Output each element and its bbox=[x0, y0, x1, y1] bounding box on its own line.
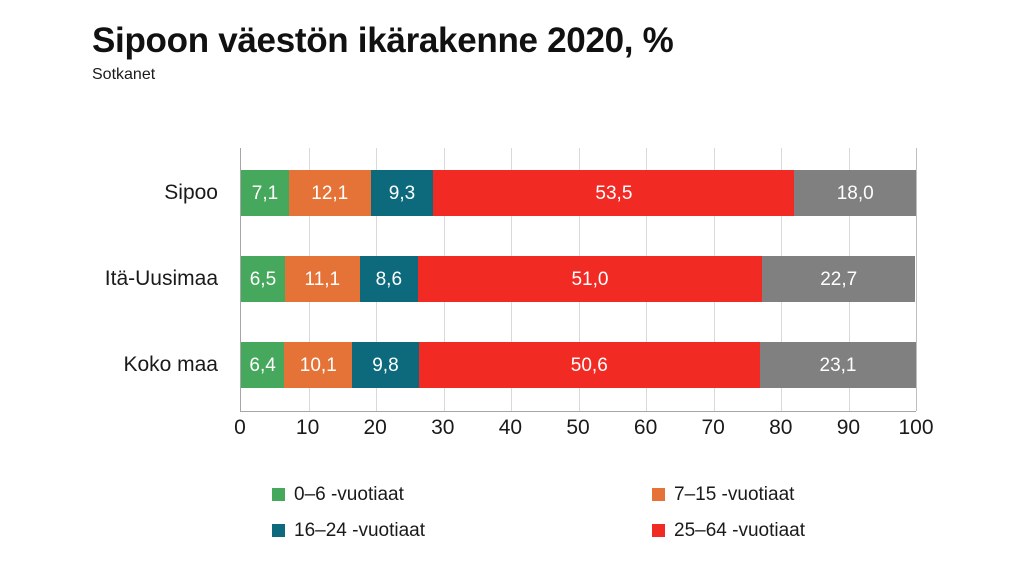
x-axis-tick: 60 bbox=[634, 416, 657, 440]
legend-swatch-icon bbox=[272, 524, 285, 537]
category-label: Sipoo bbox=[164, 170, 218, 216]
legend-item[interactable]: 7–15 -vuotiaat bbox=[652, 485, 794, 504]
bar-segment[interactable]: 6,5 bbox=[241, 256, 285, 302]
bar-segment[interactable]: 8,6 bbox=[360, 256, 418, 302]
plot-area: 7,112,19,353,518,06,511,18,651,022,76,41… bbox=[240, 148, 916, 412]
legend-swatch-icon bbox=[652, 524, 665, 537]
legend-row: 16–24 -vuotiaat25–64 -vuotiaat bbox=[272, 512, 872, 548]
gridline bbox=[916, 148, 917, 411]
legend-label: 16–24 -vuotiaat bbox=[294, 521, 425, 540]
bar-segment[interactable]: 23,1 bbox=[760, 342, 916, 388]
bar-segment[interactable]: 7,1 bbox=[241, 170, 289, 216]
bar-segment[interactable]: 10,1 bbox=[284, 342, 352, 388]
x-axis-tick: 100 bbox=[898, 416, 933, 440]
legend-swatch-icon bbox=[272, 488, 285, 501]
legend-label: 7–15 -vuotiaat bbox=[674, 485, 794, 504]
legend-label: 0–6 -vuotiaat bbox=[294, 485, 404, 504]
legend-item[interactable]: 25–64 -vuotiaat bbox=[652, 521, 805, 540]
legend-label: 25–64 -vuotiaat bbox=[674, 521, 805, 540]
page-title: Sipoon väestön ikärakenne 2020, % bbox=[92, 22, 972, 60]
category-label: Koko maa bbox=[123, 342, 218, 388]
chart-subtitle: Sotkanet bbox=[92, 66, 972, 84]
bar-segment[interactable]: 11,1 bbox=[285, 256, 360, 302]
bar-segment[interactable]: 9,3 bbox=[371, 170, 434, 216]
legend-swatch-icon bbox=[652, 488, 665, 501]
bar-row[interactable]: 6,511,18,651,022,7 bbox=[241, 256, 916, 302]
bar-rows: 7,112,19,353,518,06,511,18,651,022,76,41… bbox=[241, 148, 916, 411]
x-axis-tick: 30 bbox=[431, 416, 454, 440]
bar-segment[interactable]: 6,4 bbox=[241, 342, 284, 388]
legend-item[interactable]: 0–6 -vuotiaat bbox=[272, 485, 652, 504]
x-axis-tick: 20 bbox=[364, 416, 387, 440]
chart-legend: 0–6 -vuotiaat7–15 -vuotiaat16–24 -vuotia… bbox=[272, 476, 872, 548]
bar-segment[interactable]: 12,1 bbox=[289, 170, 371, 216]
bar-segment[interactable]: 18,0 bbox=[794, 170, 916, 216]
chart-header: Sipoon väestön ikärakenne 2020, % Sotkan… bbox=[92, 22, 972, 83]
x-axis-tick: 40 bbox=[499, 416, 522, 440]
x-axis-tick: 50 bbox=[566, 416, 589, 440]
bar-segment[interactable]: 9,8 bbox=[352, 342, 418, 388]
x-axis-tick: 90 bbox=[837, 416, 860, 440]
bar-segment[interactable]: 51,0 bbox=[418, 256, 762, 302]
bar-row[interactable]: 6,410,19,850,623,1 bbox=[241, 342, 916, 388]
chart-plot: 7,112,19,353,518,06,511,18,651,022,76,41… bbox=[240, 148, 916, 412]
category-axis-labels: SipooItä-UusimaaKoko maa bbox=[60, 148, 230, 412]
x-axis-tick: 80 bbox=[769, 416, 792, 440]
bar-segment[interactable]: 22,7 bbox=[762, 256, 915, 302]
legend-item[interactable]: 16–24 -vuotiaat bbox=[272, 521, 652, 540]
x-axis-tick: 10 bbox=[296, 416, 319, 440]
bar-segment[interactable]: 53,5 bbox=[433, 170, 794, 216]
x-axis-tick: 0 bbox=[234, 416, 246, 440]
x-axis-tick: 70 bbox=[702, 416, 725, 440]
category-label: Itä-Uusimaa bbox=[105, 256, 218, 302]
bar-row[interactable]: 7,112,19,353,518,0 bbox=[241, 170, 916, 216]
x-axis-tick-labels: 0102030405060708090100 bbox=[240, 416, 916, 446]
legend-row: 0–6 -vuotiaat7–15 -vuotiaat bbox=[272, 476, 872, 512]
bar-segment[interactable]: 50,6 bbox=[419, 342, 761, 388]
